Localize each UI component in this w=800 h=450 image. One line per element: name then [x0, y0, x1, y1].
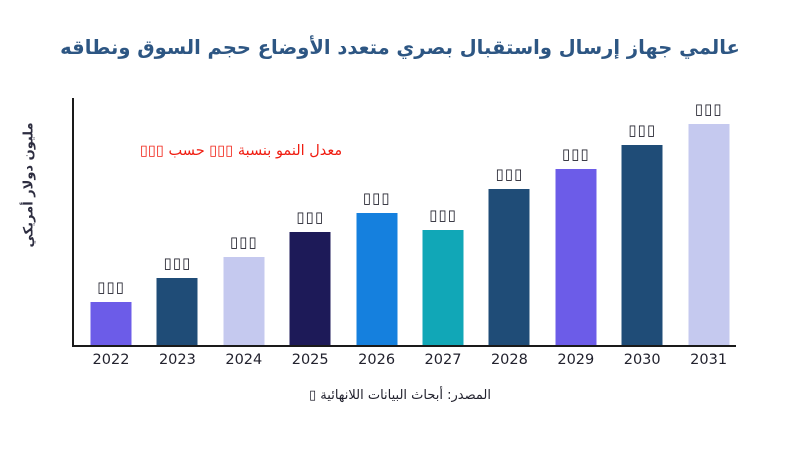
x-tick-2027: 2027 [410, 352, 476, 368]
chart-container: عالمي جهاز إرسال واستقبال بصري متعدد الأ… [0, 0, 800, 450]
bar-slot: ▯▯▯ [344, 96, 410, 345]
x-tick-2024: 2024 [211, 352, 277, 368]
bar-2024[interactable] [223, 257, 264, 345]
bar-slot: ▯▯▯ [211, 96, 277, 345]
bar-2025[interactable] [290, 232, 331, 345]
x-tick-2023: 2023 [144, 352, 210, 368]
bar-slot: ▯▯▯ [676, 96, 742, 345]
source-caption: المصدر: أبحاث البيانات اللانهائية ▯ [0, 388, 800, 403]
bar-value-label-2025: ▯▯▯ [296, 208, 324, 226]
bar-slot: ▯▯▯ [609, 96, 675, 345]
x-axis-tick-labels: 2022202320242025202620272028202920302031 [72, 352, 772, 376]
x-tick-2031: 2031 [676, 352, 742, 368]
bar-value-label-2031: ▯▯▯ [695, 100, 723, 118]
bar-series: ▯▯▯▯▯▯▯▯▯▯▯▯▯▯▯▯▯▯▯▯▯▯▯▯▯▯▯▯▯▯ [72, 98, 772, 347]
bar-value-label-2028: ▯▯▯ [496, 165, 524, 183]
x-tick-2030: 2030 [609, 352, 675, 368]
bar-2031[interactable] [688, 124, 729, 345]
bar-value-label-2029: ▯▯▯ [562, 145, 590, 163]
x-tick-2026: 2026 [344, 352, 410, 368]
bar-2027[interactable] [423, 230, 464, 345]
bar-slot: ▯▯▯ [144, 96, 210, 345]
bar-value-label-2024: ▯▯▯ [230, 233, 258, 251]
x-tick-2028: 2028 [476, 352, 542, 368]
y-axis-label-container: مليون دولار أمريكي [12, 70, 46, 300]
chart-title: عالمي جهاز إرسال واستقبال بصري متعدد الأ… [0, 36, 800, 59]
bar-slot: ▯▯▯ [277, 96, 343, 345]
bar-2026[interactable] [356, 213, 397, 345]
bar-slot: ▯▯▯ [476, 96, 542, 345]
bar-slot: ▯▯▯ [78, 96, 144, 345]
bar-2022[interactable] [91, 302, 132, 345]
y-axis-label: مليون دولار أمريكي [22, 122, 37, 247]
growth-rate-annotation: معدل النمو بنسبة ▯▯▯ حسب ▯▯▯ [140, 143, 342, 159]
bar-value-label-2022: ▯▯▯ [97, 278, 125, 296]
bar-slot: ▯▯▯ [410, 96, 476, 345]
bar-2023[interactable] [157, 278, 198, 345]
bar-value-label-2023: ▯▯▯ [164, 254, 192, 272]
bar-value-label-2026: ▯▯▯ [363, 189, 391, 207]
bar-2028[interactable] [489, 189, 530, 345]
x-tick-2022: 2022 [78, 352, 144, 368]
plot-area: ▯▯▯▯▯▯▯▯▯▯▯▯▯▯▯▯▯▯▯▯▯▯▯▯▯▯▯▯▯▯ [72, 98, 772, 347]
x-tick-2029: 2029 [543, 352, 609, 368]
bar-2030[interactable] [622, 145, 663, 345]
bar-value-label-2027: ▯▯▯ [429, 206, 457, 224]
bar-2029[interactable] [555, 169, 596, 345]
x-tick-2025: 2025 [277, 352, 343, 368]
bar-value-label-2030: ▯▯▯ [628, 121, 656, 139]
bar-slot: ▯▯▯ [543, 96, 609, 345]
